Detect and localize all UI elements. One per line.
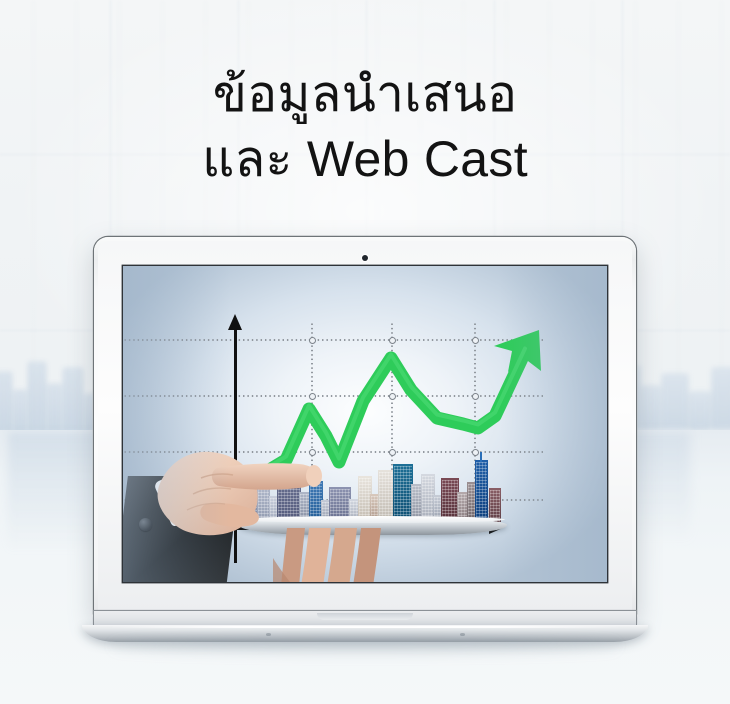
page-title-line2: และ Web Cast — [0, 127, 730, 192]
laptop-device — [82, 237, 648, 637]
laptop-lid-notch — [317, 613, 413, 620]
laptop-foot-screw-left — [266, 633, 271, 636]
page-root: ข้อมูลนำเสนอ และ Web Cast — [0, 0, 730, 704]
screen-vignette — [123, 266, 607, 582]
laptop-foot-highlight — [108, 626, 622, 628]
laptop-shadow — [112, 639, 618, 653]
laptop-foot-screw-right — [460, 633, 465, 636]
page-title-line1: ข้อมูลนำเสนอ — [0, 62, 730, 127]
page-title: ข้อมูลนำเสนอ และ Web Cast — [0, 62, 730, 192]
laptop-lid — [94, 237, 636, 618]
webcam-icon — [362, 255, 368, 261]
laptop-screen[interactable] — [123, 266, 607, 582]
